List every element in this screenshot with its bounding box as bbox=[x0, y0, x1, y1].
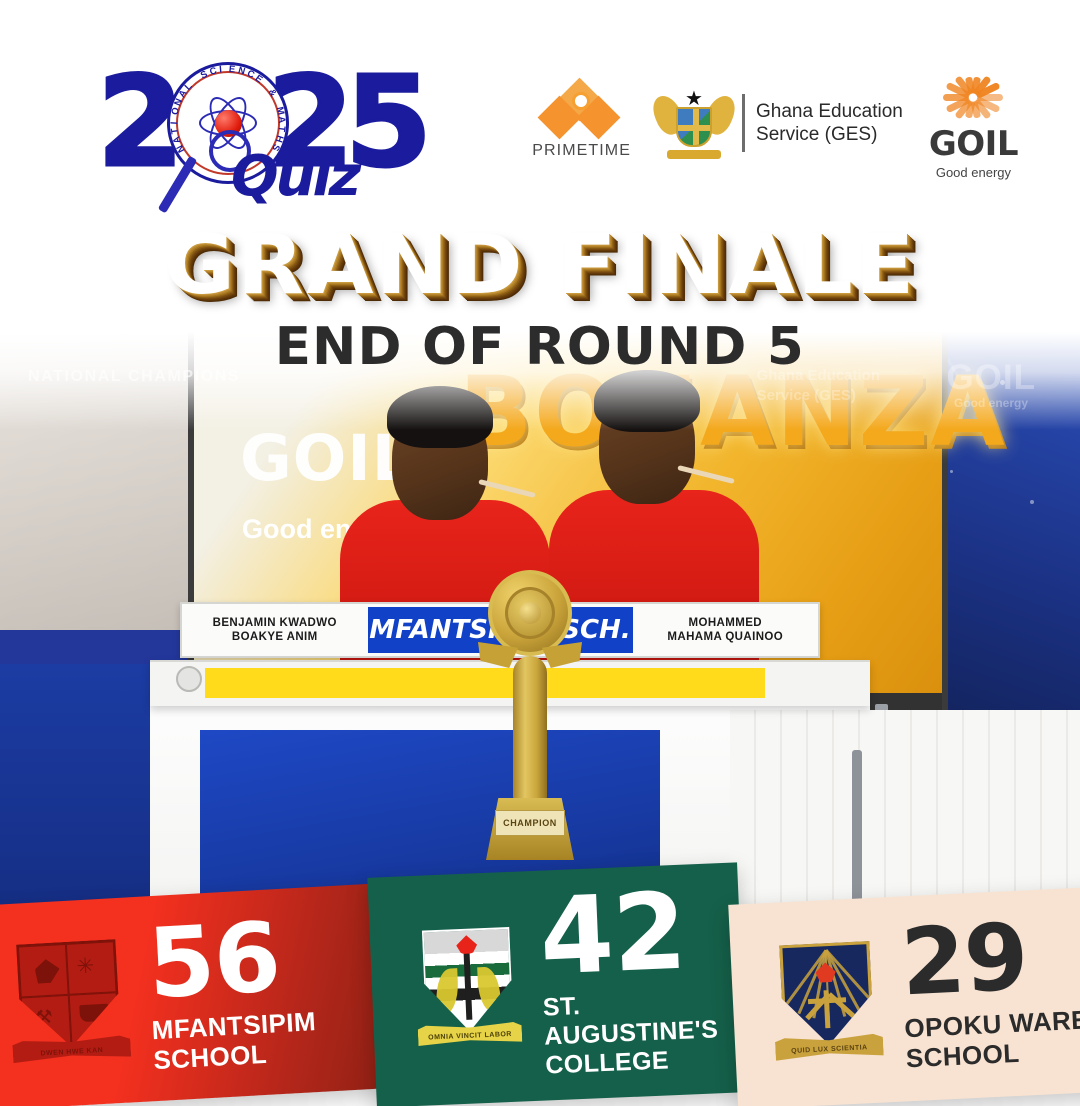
ges-label: Ghana Education Service (GES) bbox=[756, 100, 903, 146]
name-plate-right-line1: MOHAMMED bbox=[633, 616, 819, 630]
opoku-ware-score: 29 bbox=[899, 915, 1080, 1005]
primetime-label: PRIMETIME bbox=[532, 142, 631, 160]
round-subtitle: END OF ROUND 5 bbox=[275, 321, 805, 373]
name-plate-left: BENJAMIN KWADWO BOAKYE ANIM bbox=[182, 616, 368, 645]
st-augustines-crest-icon: OMNIA VINCIT LABOR bbox=[413, 924, 522, 1054]
mfantsipim-crest-icon: ✳ ⚒ DWEN HWE KAN bbox=[7, 936, 132, 1070]
mfantsipim-school-name: MFANTSIPIM SCHOOL bbox=[151, 1006, 318, 1075]
ges-label-line1: Ghana Education bbox=[756, 100, 903, 123]
sponsor-logos: PRIMETIME ★ G bbox=[532, 66, 1018, 180]
desk-knob-icon bbox=[176, 666, 202, 692]
opoku-ware-crest-icon: QUID LUX SCIENTIA bbox=[770, 938, 884, 1067]
page-title: GRAND FINALE bbox=[164, 225, 917, 307]
logo-quiz-word: Quiz bbox=[231, 144, 358, 209]
score-card-mfantsipim[interactable]: ✳ ⚒ DWEN HWE KAN 56 MFANTSIPIM SCHOOL bbox=[0, 883, 393, 1106]
goil-swirl-icon bbox=[943, 66, 1003, 122]
st-augustines-school-name: ST. AUGUSTINE'S COLLEGE bbox=[542, 985, 745, 1080]
name-plate-right: MOHAMMED MAHAMA QUAINOO bbox=[633, 616, 819, 645]
header-bar: 2 2 5 NATIONAL SCIENCE & MATHS Quiz bbox=[0, 0, 1080, 210]
scoreboard-graphic: 2 2 5 NATIONAL SCIENCE & MATHS Quiz bbox=[0, 0, 1080, 1106]
ghana-coat-of-arms-icon: ★ bbox=[657, 85, 731, 161]
primetime-diamond-icon bbox=[536, 86, 628, 138]
sponsor-primetime: PRIMETIME bbox=[532, 86, 631, 160]
sponsor-goil: GOIL Good energy bbox=[929, 66, 1018, 180]
title-block: GRAND FINALE END OF ROUND 5 bbox=[0, 225, 1080, 373]
mfantsipim-score: 56 bbox=[146, 913, 315, 1007]
opoku-ware-school-name: OPOKU WARE SCHOOL bbox=[904, 1005, 1080, 1074]
name-plate-left-line1: BENJAMIN KWADWO bbox=[182, 616, 368, 630]
trophy-emblem-icon bbox=[488, 570, 572, 656]
st-augustines-name-line1: ST. AUGUSTINE'S bbox=[542, 985, 744, 1051]
goil-tagline: Good energy bbox=[936, 165, 1011, 180]
score-card-opoku-ware[interactable]: QUID LUX SCIENTIA 29 OPOKU WARE SCHOOL bbox=[728, 885, 1080, 1106]
st-augustines-score: 42 bbox=[538, 883, 742, 985]
ges-label-line2: Service (GES) bbox=[756, 123, 903, 146]
sponsor-ges: ★ Ghana Education Service (GES) bbox=[657, 85, 903, 161]
scoreboard: ✳ ⚒ DWEN HWE KAN 56 MFANTSIPIM SCHOOL bbox=[0, 816, 1080, 1106]
ges-divider bbox=[742, 94, 745, 152]
screen-brand-text: GOIL bbox=[240, 422, 413, 495]
name-plate-left-line2: BOAKYE ANIM bbox=[182, 630, 368, 644]
score-card-st-augustines[interactable]: OMNIA VINCIT LABOR 42 ST. AUGUSTINE'S CO… bbox=[367, 862, 746, 1106]
goil-label: GOIL bbox=[929, 127, 1018, 161]
nsmq-event-logo: 2 2 5 NATIONAL SCIENCE & MATHS Quiz bbox=[95, 52, 435, 192]
name-plate-right-line2: MAHAMA QUAINOO bbox=[633, 630, 819, 644]
